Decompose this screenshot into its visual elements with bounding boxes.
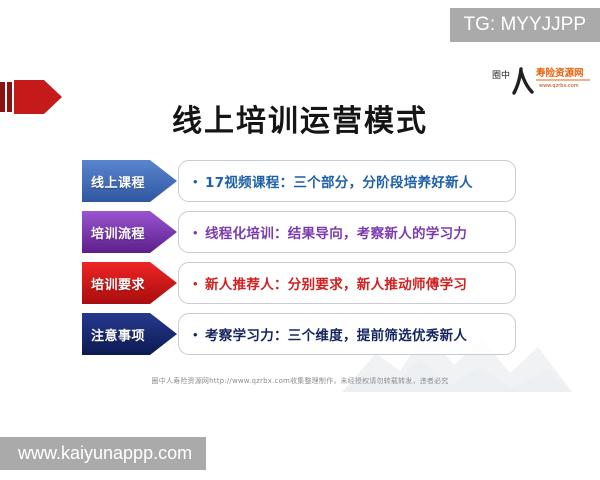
process-row: 线上课程 • 17视频课程：三个部分，分阶段培养好新人 [0, 160, 600, 202]
stage-tag-label-3: 培训要求 [82, 262, 154, 304]
process-rows: 线上课程 • 17视频课程：三个部分，分阶段培养好新人 培训流程 • 线程化 [0, 160, 600, 364]
stage-tag-2[interactable]: 培训流程 [82, 211, 177, 253]
stage-content-box-2[interactable]: • 线程化培训：结果导向，考察新人的学习力 [178, 211, 516, 253]
stage-tag-label-2: 培训流程 [82, 211, 154, 253]
stage-tag-label-1: 线上课程 [82, 160, 154, 202]
stage-content-text-2: 线程化培训：结果导向，考察新人的学习力 [205, 222, 467, 242]
bullet-icon: • [193, 226, 205, 239]
stage-content-text-3: 新人推荐人：分别要求，新人推动师傅学习 [205, 273, 467, 293]
logo-name-cn: 圈中 [492, 69, 510, 81]
stage-content-box-1[interactable]: • 17视频课程：三个部分，分阶段培养好新人 [178, 160, 516, 202]
stage-content-box-4[interactable]: • 考察学习力：三个维度，提前筛选优秀新人 [178, 313, 516, 355]
bullet-icon: • [193, 328, 205, 341]
logo-url: www.qzrbx.com [539, 83, 579, 89]
stage-tag-3[interactable]: 培训要求 [82, 262, 177, 304]
footer-copyright-note: 圈中人寿险资源网http://www.qzrbx.com收集整理制作，未经授权请… [0, 376, 600, 386]
stage-tag-1[interactable]: 线上课程 [82, 160, 177, 202]
process-row: 注意事项 • 考察学习力：三个维度，提前筛选优秀新人 [0, 313, 600, 355]
bullet-icon: • [193, 277, 205, 290]
stage-tag-label-4: 注意事项 [82, 313, 154, 355]
stage-content-box-3[interactable]: • 新人推荐人：分别要求，新人推动师傅学习 [178, 262, 516, 304]
watermark-bottom-left: www.kaiyunappp.com [0, 437, 206, 470]
qzrbx-logo: 圈中 寿险资源网 www.qzrbx.com [490, 62, 594, 100]
watermark-top-right: TG: MYYJJPP [450, 8, 600, 42]
process-row: 培训要求 • 新人推荐人：分别要求，新人推动师傅学习 [0, 262, 600, 304]
bullet-icon: • [193, 175, 205, 188]
stage-content-text-1: 17视频课程：三个部分，分阶段培养好新人 [205, 171, 473, 191]
slide-title: 线上培训运营模式 [0, 96, 600, 140]
stage-content-text-4: 考察学习力：三个维度，提前筛选优秀新人 [205, 324, 467, 344]
stage-tag-4[interactable]: 注意事项 [82, 313, 177, 355]
logo-tagline-cn: 寿险资源网 [536, 67, 584, 79]
process-row: 培训流程 • 线程化培训：结果导向，考察新人的学习力 [0, 211, 600, 253]
slide-canvas: 圈中 寿险资源网 www.qzrbx.com 线上培训运营模式 线上课程 • 1… [0, 0, 600, 480]
